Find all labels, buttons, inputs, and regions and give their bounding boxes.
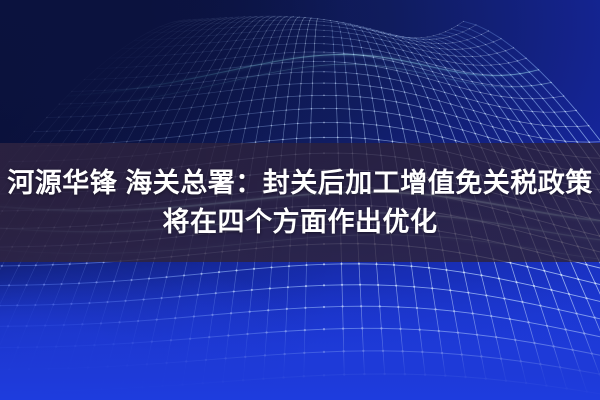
news-thumbnail-banner: 河源华锋 海关总署：封关后加工增值免关税政策 将在四个方面作出优化 [0,0,600,400]
headline-block: 河源华锋 海关总署：封关后加工增值免关税政策 将在四个方面作出优化 [0,143,600,262]
headline-line-2: 将在四个方面作出优化 [163,208,438,236]
headline-line-1: 河源华锋 海关总署：封关后加工增值免关税政策 [7,169,593,197]
